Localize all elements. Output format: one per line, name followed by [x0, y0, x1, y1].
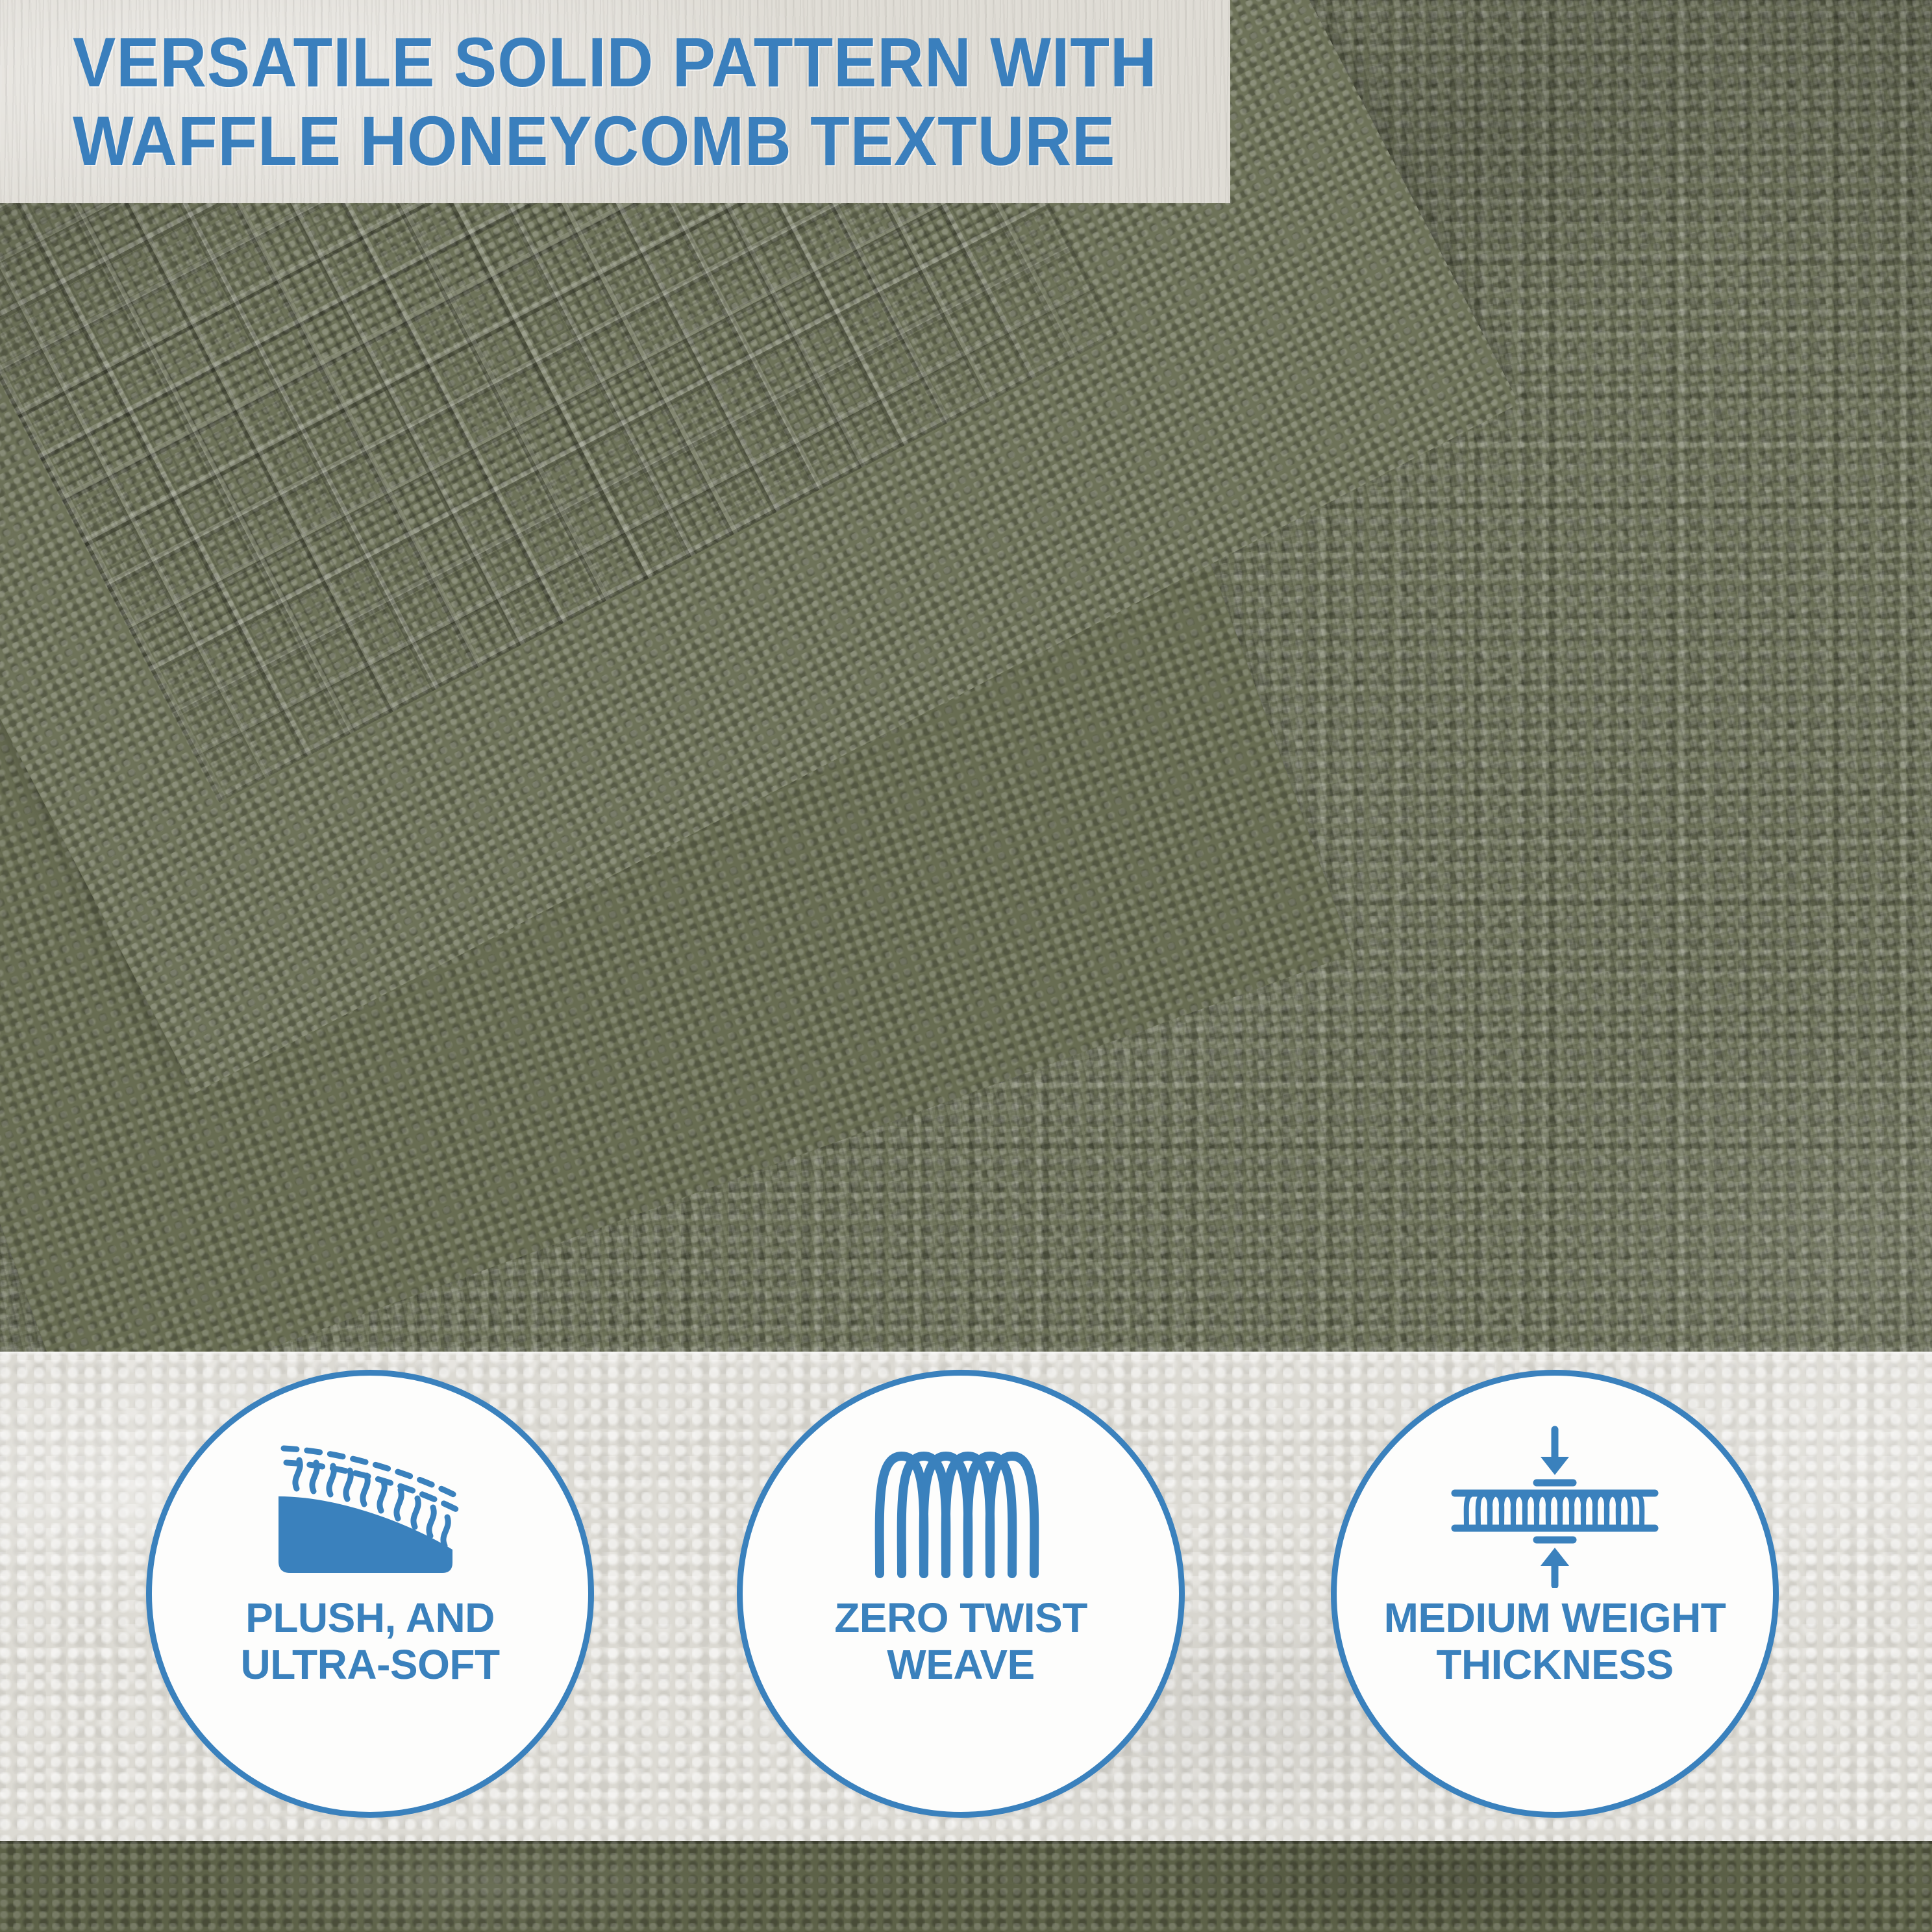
feature-badge-label: ZERO TWIST WEAVE	[834, 1595, 1087, 1688]
feature-badge-zero-twist[interactable]: ZERO TWIST WEAVE	[737, 1370, 1185, 1818]
zero-twist-loops-icon	[854, 1426, 1068, 1587]
feature-badge-label: MEDIUM WEIGHT THICKNESS	[1384, 1595, 1726, 1688]
bottom-strip-shading	[0, 1841, 1932, 1932]
feature-badges: PLUSH, AND ULTRA-SOFT ZERO TWIST WEAVE	[0, 0, 1932, 1932]
plush-pile-icon	[263, 1426, 477, 1587]
bottom-towel-strip	[0, 1841, 1932, 1932]
feature-badge-thickness[interactable]: MEDIUM WEIGHT THICKNESS	[1331, 1370, 1779, 1818]
infographic-stage: VERSATILE SOLID PATTERN WITH WAFFLE HONE…	[0, 0, 1932, 1932]
feature-badge-label: PLUSH, AND ULTRA-SOFT	[240, 1595, 499, 1688]
feature-badge-plush[interactable]: PLUSH, AND ULTRA-SOFT	[146, 1370, 594, 1818]
thickness-compression-icon	[1444, 1426, 1665, 1587]
